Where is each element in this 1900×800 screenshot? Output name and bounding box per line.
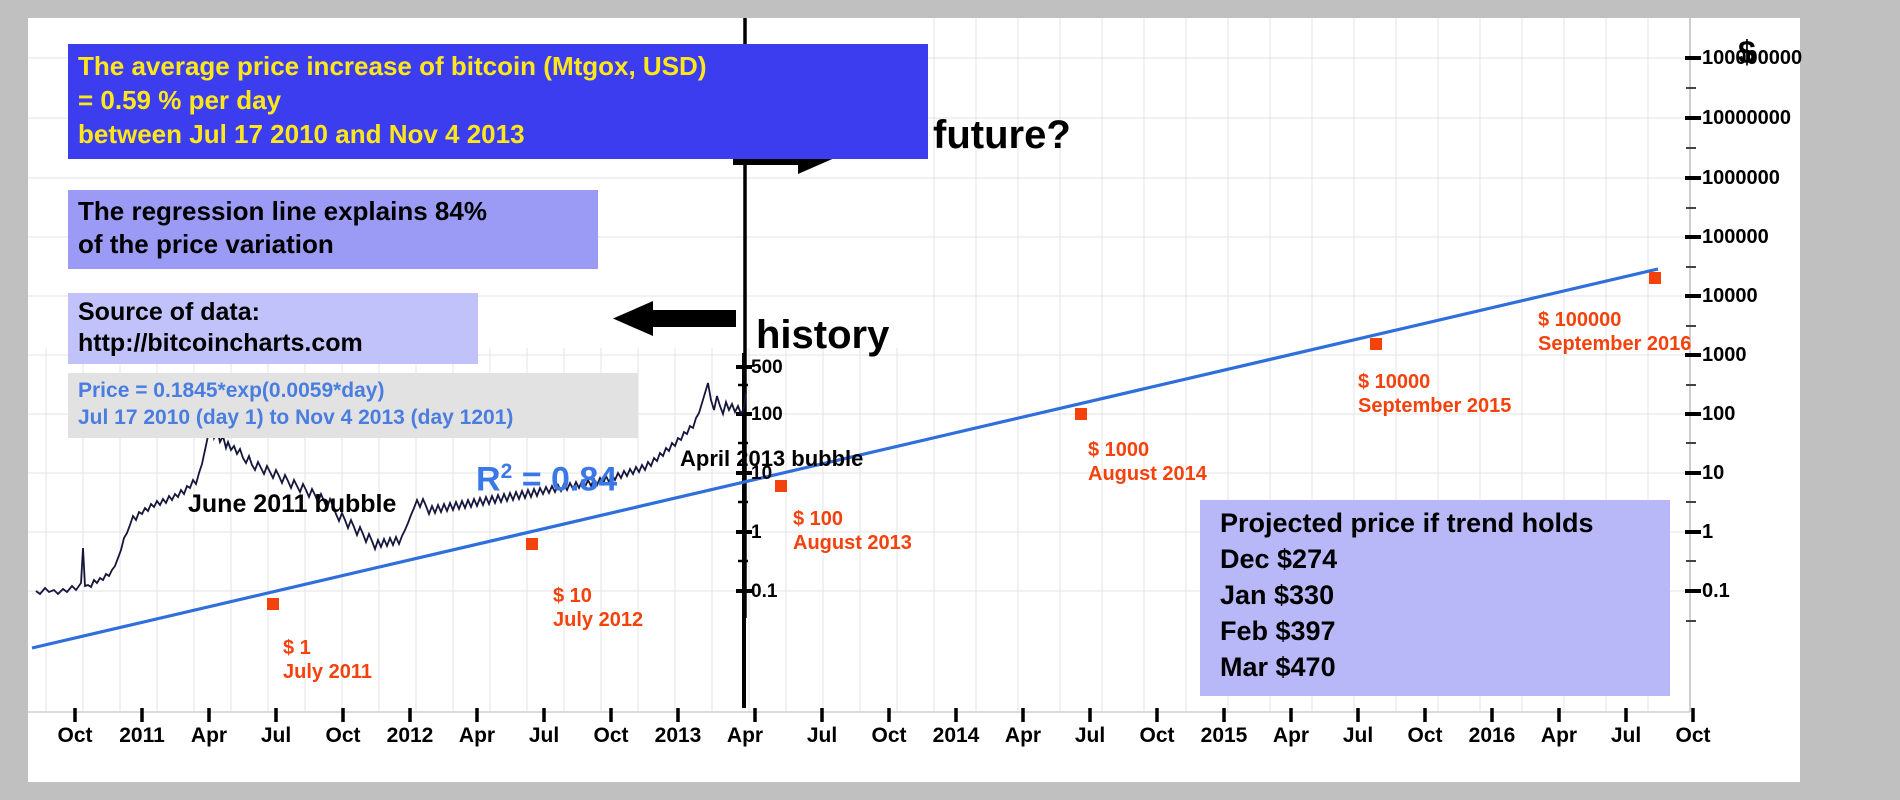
title-callout-box: The average price increase of bitcoin (M… [68,44,928,159]
annotation-10000-date: September 2015 [1358,394,1511,418]
marker-1000-dollar [1075,408,1087,420]
r-squared-label: R2 = 0.84 [476,460,617,499]
xtick-14: Apr [996,724,1050,748]
april-2013-bubble-label: April 2013 bubble [680,446,863,472]
regression-line-1: The regression line explains 84% [78,195,590,228]
xtick-23: Jul [1599,724,1653,748]
projection-row-feb: Feb $397 [1220,614,1660,650]
xtick-2: Apr [182,724,236,748]
inner-ytick-0.1: 0.1 [751,581,777,603]
regression-callout-box: The regression line explains 84% of the … [68,190,598,269]
right-ytick-1: 1 [1702,521,1713,544]
annotation-1-dollar: $ 1 July 2011 [283,636,372,685]
marker-10000-dollar [1370,338,1382,350]
projection-row-jan: Jan $330 [1220,578,1660,614]
annotation-1000-value: $ 1000 [1088,438,1207,462]
xtick-10: Apr [718,724,772,748]
annotation-100000-dollar: $ 100000 September 2016 [1538,308,1691,357]
history-arrow [613,301,736,336]
annotation-1-date: July 2011 [283,660,372,684]
right-ytick-100: 100 [1702,403,1735,426]
r-squared-exponent: 2 [501,460,513,483]
marker-1-dollar [267,598,279,610]
xtick-16: Oct [1130,724,1184,748]
projection-row-mar: Mar $470 [1220,650,1660,686]
june-2011-bubble-label: June 2011 bubble [188,490,396,519]
xtick-9: 2013 [644,724,712,748]
xtick-1: 2011 [108,724,176,748]
title-line-3: between Jul 17 2010 and Nov 4 2013 [78,118,920,152]
right-ytick-1000000: 1000000 [1702,167,1780,190]
xtick-3: Jul [249,724,303,748]
annotation-100000-date: September 2016 [1538,332,1691,356]
marker-100000-dollar [1649,272,1661,284]
xtick-21: 2016 [1458,724,1526,748]
title-line-2: = 0.59 % per day [78,84,920,118]
right-axis-currency-label: $ [1738,34,1756,71]
xtick-6: Apr [450,724,504,748]
annotation-100-date: August 2013 [793,531,912,555]
xtick-4: Oct [316,724,370,748]
xtick-17: 2015 [1190,724,1258,748]
annotation-100000-value: $ 100000 [1538,308,1691,332]
right-ytick-0.1: 0.1 [1702,580,1730,603]
regression-line-2: of the price variation [78,228,590,261]
xtick-11: Jul [795,724,849,748]
xtick-24: Oct [1666,724,1720,748]
annotation-10-date: July 2012 [553,608,643,632]
inner-ytick-1: 1 [751,522,762,544]
chart-canvas: 500 100 10 1 0.1 100000000 10000000 1000… [28,18,1800,782]
annotation-1-value: $ 1 [283,636,372,660]
xtick-8: Oct [584,724,638,748]
formula-callout-box: Price = 0.1845*exp(0.0059*day) Jul 17 20… [68,373,638,438]
marker-100-dollar [775,480,787,492]
xtick-19: Jul [1331,724,1385,748]
inner-ytick-500: 500 [751,357,783,379]
xtick-13: 2014 [922,724,990,748]
source-line-1: Source of data: [78,297,470,328]
xtick-12: Oct [862,724,916,748]
xtick-22: Apr [1532,724,1586,748]
xtick-5: 2012 [376,724,444,748]
xtick-0: Oct [48,724,102,748]
right-ytick-10: 10 [1702,462,1724,485]
x-axis-ticks [75,708,1693,722]
r-squared-base: R [476,460,501,498]
annotation-100-dollar: $ 100 August 2013 [793,507,912,556]
source-url[interactable]: http://bitcoincharts.com [78,328,470,359]
annotation-1000-dollar: $ 1000 August 2014 [1088,438,1207,487]
title-line-1: The average price increase of bitcoin (M… [78,50,920,84]
right-ytick-10000000: 10000000 [1702,107,1791,130]
chart-page: 500 100 10 1 0.1 100000000 10000000 1000… [0,0,1900,800]
projection-row-dec: Dec $274 [1220,542,1660,578]
xtick-7: Jul [517,724,571,748]
annotation-10000-value: $ 10000 [1358,370,1511,394]
source-callout-box: Source of data: http://bitcoincharts.com [68,293,478,364]
formula-equation: Price = 0.1845*exp(0.0059*day) [78,377,630,404]
marker-10-dollar [526,538,538,550]
inner-ytick-100: 100 [751,404,783,426]
right-ytick-100000: 100000 [1702,226,1769,249]
r-squared-value: = 0.84 [512,460,617,498]
history-label: history [756,313,889,358]
annotation-100-value: $ 100 [793,507,912,531]
annotation-10000-dollar: $ 10000 September 2015 [1358,370,1511,419]
projection-heading: Projected price if trend holds [1220,506,1660,542]
annotation-10-dollar: $ 10 July 2012 [553,584,643,633]
annotation-1000-date: August 2014 [1088,462,1207,486]
formula-daterange: Jul 17 2010 (day 1) to Nov 4 2013 (day 1… [78,404,630,431]
annotation-10-value: $ 10 [553,584,643,608]
right-ytick-10000: 10000 [1702,285,1758,308]
right-ytick-1000: 1000 [1702,344,1747,367]
xtick-18: Apr [1264,724,1318,748]
projection-callout-box: Projected price if trend holds Dec $274 … [1200,500,1670,696]
future-label: future? [933,113,1071,158]
xtick-20: Oct [1398,724,1452,748]
xtick-15: Jul [1063,724,1117,748]
